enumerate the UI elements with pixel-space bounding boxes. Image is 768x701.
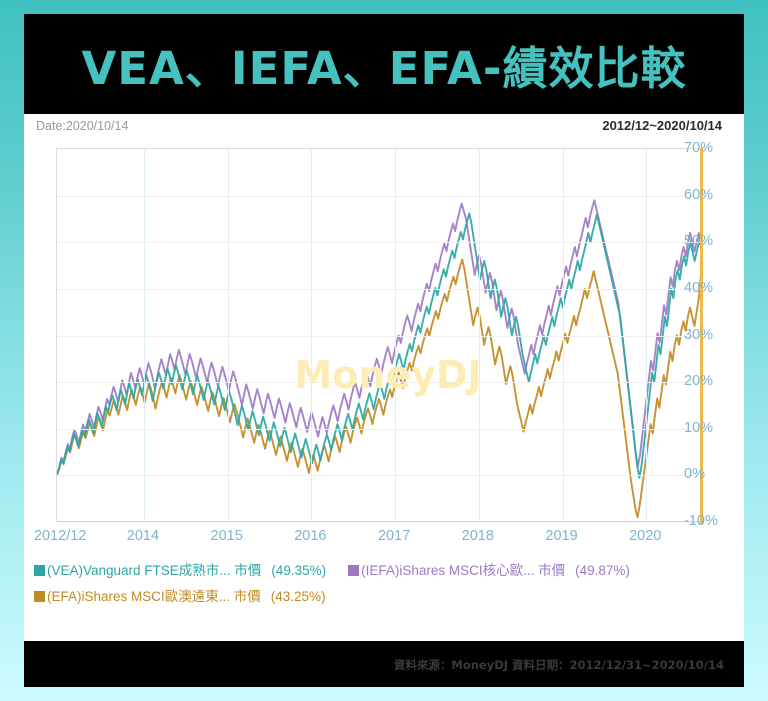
legend-value: (49.35%) xyxy=(271,563,326,578)
x-tick-label: 2016 xyxy=(294,528,326,544)
gridline-vertical xyxy=(144,149,145,521)
x-tick-label: 2014 xyxy=(127,528,159,544)
legend-row: (VEA)Vanguard FTSE成熟市... 市價(49.35%)(IEFA… xyxy=(34,559,734,579)
plot-area[interactable] xyxy=(56,148,700,521)
black-frame: VEA、IEFA、EFA-績效比較 Date:2020/10/14 2012/1… xyxy=(24,14,744,687)
footer-bar: 資料來源：MoneyDJ 資料日期：2012/12/31~2020/10/14 xyxy=(24,641,744,687)
x-axis-line xyxy=(56,521,700,522)
x-tick-label: 2018 xyxy=(462,528,494,544)
y-tick-label: 60% xyxy=(684,187,713,203)
chart-legend: (VEA)Vanguard FTSE成熟市... 市價(49.35%)(IEFA… xyxy=(34,559,734,611)
y-tick-label: 0% xyxy=(684,466,705,482)
legend-value: (43.25%) xyxy=(271,589,326,604)
source-note: 資料來源：MoneyDJ 資料日期：2012/12/31~2020/10/14 xyxy=(394,657,724,673)
x-tick-label: 2019 xyxy=(545,528,577,544)
gridline-vertical xyxy=(395,149,396,521)
chart-header: Date:2020/10/14 2012/12~2020/10/14 xyxy=(24,114,744,140)
legend-entry[interactable]: (VEA)Vanguard FTSE成熟市... 市價(49.35%) xyxy=(34,559,326,579)
legend-color-swatch xyxy=(34,591,45,602)
legend-color-swatch xyxy=(348,565,359,576)
page-title: VEA、IEFA、EFA-績效比較 xyxy=(81,32,686,97)
current-date-label: Date:2020/10/14 xyxy=(36,119,128,133)
gridline-vertical xyxy=(479,149,480,521)
gridline-vertical xyxy=(646,149,647,521)
gridline-horizontal xyxy=(57,196,700,197)
x-tick-label: 2020 xyxy=(629,528,661,544)
y-tick-label: 20% xyxy=(684,373,713,389)
gridline-horizontal xyxy=(57,475,700,476)
y-tick-label: 70% xyxy=(684,140,713,156)
x-tick-label: 2015 xyxy=(211,528,243,544)
legend-label: (EFA)iShares MSCI歐澳遠東... 市價 xyxy=(47,585,261,605)
title-band: VEA、IEFA、EFA-績效比較 xyxy=(24,14,744,114)
y-tick-label: -10% xyxy=(684,513,718,529)
y-tick-label: 30% xyxy=(684,327,713,343)
series-line xyxy=(57,213,701,477)
legend-label: (VEA)Vanguard FTSE成熟市... 市價 xyxy=(47,559,261,579)
x-tick-label: 2012/12 xyxy=(34,528,86,544)
x-tick-label: 2017 xyxy=(378,528,410,544)
gridline-vertical xyxy=(563,149,564,521)
gridline-vertical xyxy=(311,149,312,521)
gridline-horizontal xyxy=(57,336,700,337)
y-tick-label: 10% xyxy=(684,420,713,436)
y-tick-label: 40% xyxy=(684,280,713,296)
date-range-label: 2012/12~2020/10/14 xyxy=(602,118,722,133)
gridline-horizontal xyxy=(57,429,700,430)
legend-value: (49.87%) xyxy=(575,563,630,578)
gridline-horizontal xyxy=(57,522,700,523)
legend-color-swatch xyxy=(34,565,45,576)
gridline-vertical xyxy=(228,149,229,521)
legend-row: (EFA)iShares MSCI歐澳遠東... 市價(43.25%) xyxy=(34,585,734,605)
gridline-horizontal xyxy=(57,289,700,290)
legend-entry[interactable]: (EFA)iShares MSCI歐澳遠東... 市價(43.25%) xyxy=(34,585,326,605)
legend-entry[interactable]: (IEFA)iShares MSCI核心歐... 市價(49.87%) xyxy=(348,559,630,579)
legend-label: (IEFA)iShares MSCI核心歐... 市價 xyxy=(361,559,565,579)
y-tick-label: 50% xyxy=(684,233,713,249)
plot-wrapper: MoneyDJ 70%60%50%40%30%20%10%0%-10%2012/… xyxy=(32,148,744,548)
gridline-horizontal xyxy=(57,382,700,383)
gridline-horizontal xyxy=(57,242,700,243)
chart-card: Date:2020/10/14 2012/12~2020/10/14 Money… xyxy=(24,114,744,641)
